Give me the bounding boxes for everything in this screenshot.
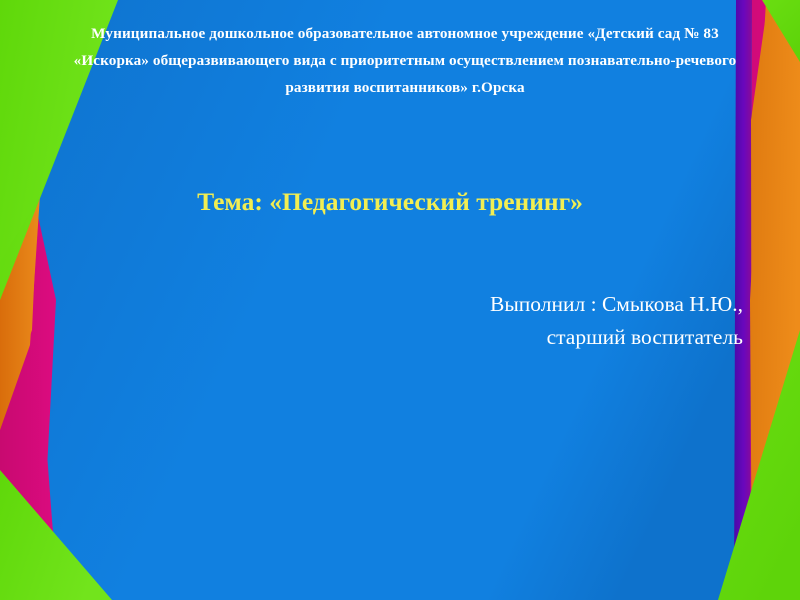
slide-content: Муниципальное дошкольное образовательное…	[0, 0, 800, 600]
author-role-line: старший воспитатель	[223, 321, 743, 354]
organization-header: Муниципальное дошкольное образовательное…	[60, 20, 750, 101]
author-block: Выполнил : Смыкова Н.Ю., старший воспита…	[223, 288, 743, 354]
page-title: Тема: «Педагогический тренинг»	[60, 186, 720, 218]
author-name-line: Выполнил : Смыкова Н.Ю.,	[223, 288, 743, 321]
presentation-slide: Муниципальное дошкольное образовательное…	[0, 0, 800, 600]
